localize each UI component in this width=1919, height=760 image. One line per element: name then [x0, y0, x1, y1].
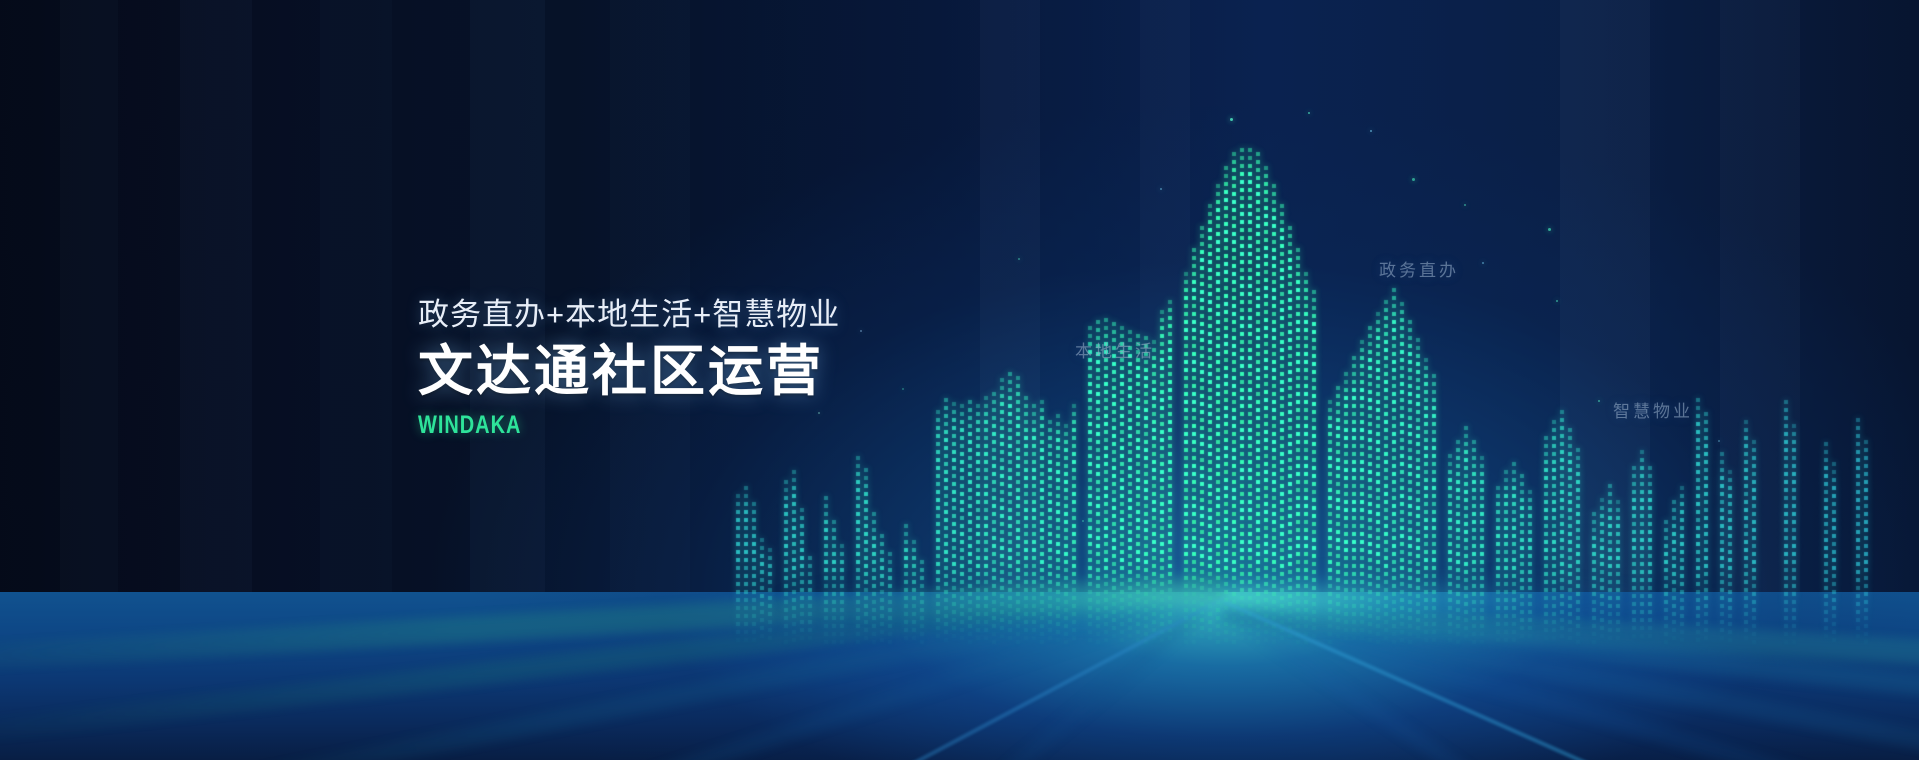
hero-headline: 文达通社区运营: [418, 341, 840, 403]
sparkle-particle: [1598, 400, 1600, 402]
sparkle-particle: [902, 388, 904, 390]
sparkle-particle: [1230, 118, 1233, 121]
sparkle-particle: [1370, 130, 1372, 132]
sparkle-particle: [1464, 204, 1466, 206]
sparkle-particle: [1482, 262, 1484, 264]
sparkle-particle: [1018, 258, 1020, 260]
sparkle-particle: [1548, 228, 1551, 231]
sparkle-particle: [1082, 520, 1084, 522]
district-label-3: 智慧物业: [1613, 397, 1693, 422]
hero-subtitle: 政务直办+本地生活+智慧物业: [418, 296, 840, 333]
district-label-1: 本地生活: [1075, 337, 1155, 362]
sparkle-particle: [1556, 300, 1558, 302]
particle-sparkles: [0, 0, 1919, 760]
hero-text-block: 政务直办+本地生活+智慧物业 文达通社区运营 WINDAKA: [418, 296, 840, 440]
hero-banner: 本地生活政务直办智慧物业 政务直办+本地生活+智慧物业 文达通社区运营 WIND…: [0, 0, 1919, 760]
sparkle-particle: [860, 330, 862, 332]
district-label-2: 政务直办: [1379, 256, 1459, 281]
sparkle-particle: [1290, 468, 1292, 470]
sparkle-particle: [1160, 188, 1162, 190]
brand-wordmark: WINDAKA: [418, 411, 756, 440]
sparkle-particle: [1412, 178, 1415, 181]
sparkle-particle: [1718, 440, 1720, 442]
sparkle-particle: [1308, 112, 1310, 114]
